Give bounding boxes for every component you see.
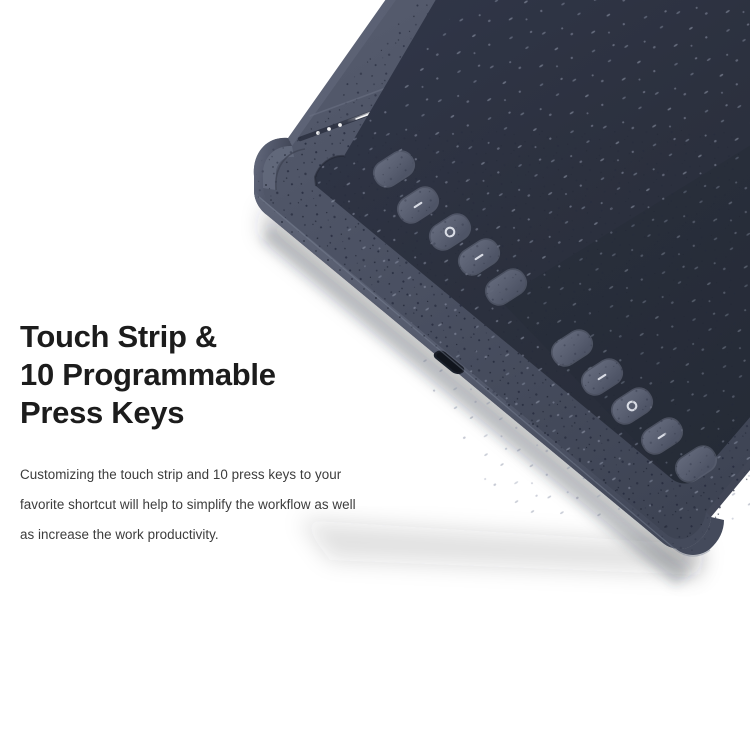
headline-line-1: Touch Strip & (20, 318, 440, 356)
press-key-8[interactable] (606, 382, 658, 429)
key-glyph-ring (444, 226, 456, 238)
press-key-9[interactable] (636, 412, 688, 459)
feature-copy-block: Touch Strip & 10 Programmable Press Keys… (20, 318, 440, 550)
key-glyph-dash (657, 432, 667, 439)
press-key-1[interactable] (368, 145, 420, 192)
press-key-2[interactable] (392, 181, 444, 228)
led-indicator-dots (316, 123, 342, 135)
press-key-6[interactable] (546, 324, 598, 371)
press-key-7[interactable] (576, 353, 628, 400)
key-glyph-dash (597, 373, 607, 380)
body-line-1: Customizing the touch strip and 10 press… (20, 460, 440, 490)
led-dot-2 (327, 127, 331, 131)
headline-line-2: 10 Programmable (20, 356, 440, 394)
product-feature-page: Touch Strip & 10 Programmable Press Keys… (0, 0, 750, 750)
touch-strip[interactable] (300, 0, 750, 139)
led-dot-3 (338, 123, 342, 127)
press-key-5[interactable] (480, 263, 532, 310)
press-key-3[interactable] (424, 208, 476, 255)
press-keys-lower-group[interactable] (546, 324, 722, 487)
press-key-4[interactable] (453, 233, 505, 280)
page-title: Touch Strip & 10 Programmable Press Keys (20, 318, 440, 432)
bezel-highlight (263, 146, 294, 190)
press-key-10[interactable] (670, 440, 722, 487)
feature-description: Customizing the touch strip and 10 press… (20, 460, 440, 550)
bezel-corner-contour (276, 149, 305, 190)
headline-line-3: Press Keys (20, 394, 440, 432)
key-glyph-ring (626, 400, 638, 412)
key-glyph-dash (474, 253, 484, 260)
press-keys-upper-group[interactable] (368, 145, 532, 310)
body-line-2: favorite shortcut will help to simplify … (20, 490, 440, 520)
key-glyph-dash (413, 201, 423, 208)
led-dot-1 (316, 131, 320, 135)
body-line-3: as increase the work productivity. (20, 520, 440, 550)
